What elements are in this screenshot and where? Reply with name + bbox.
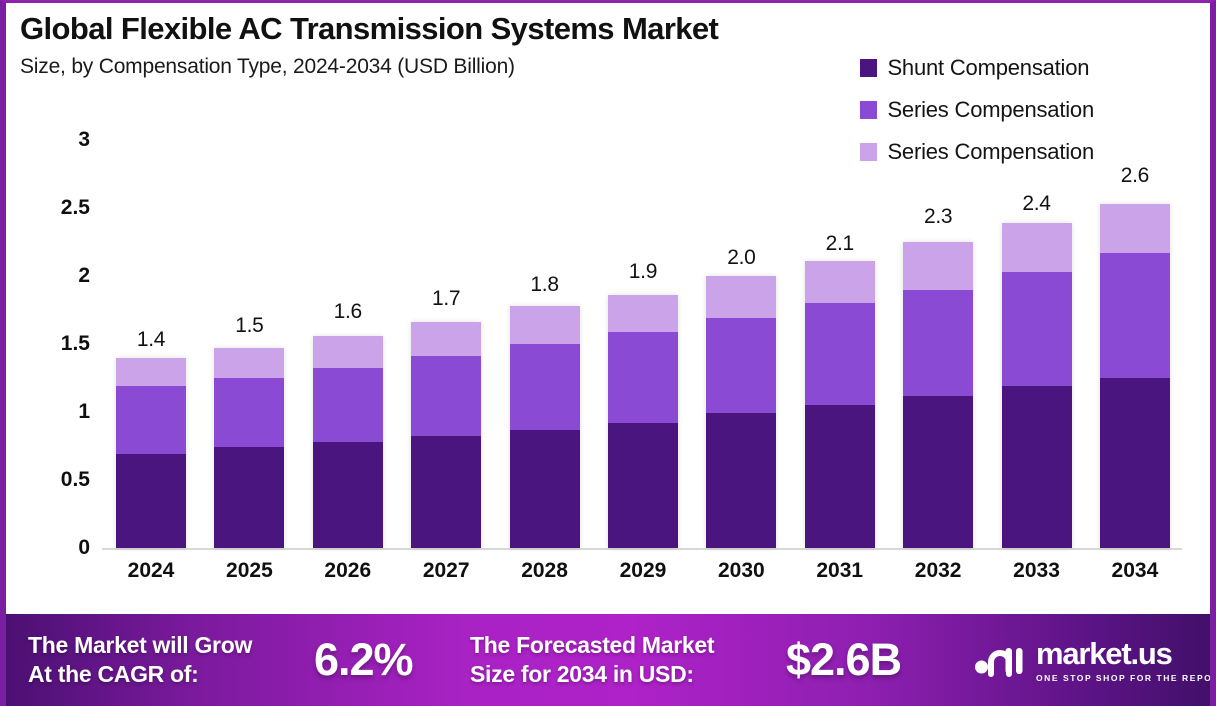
bar-segment[interactable] <box>805 405 875 548</box>
bar-column[interactable]: 1.8 <box>496 113 594 548</box>
bar-segment[interactable] <box>608 423 678 548</box>
bar-segment[interactable] <box>116 358 186 387</box>
bar-segment[interactable] <box>510 430 580 548</box>
cagr-label: The Market will Grow At the CAGR of: <box>28 631 252 689</box>
bar-value-label: 1.8 <box>496 273 594 297</box>
forecast-label-line1: The Forecasted Market <box>470 632 714 658</box>
bar-segment[interactable] <box>313 336 383 369</box>
bar-segment[interactable] <box>706 276 776 318</box>
bar-column[interactable]: 1.4 <box>102 113 200 548</box>
y-axis-tick: 0.5 <box>61 468 90 492</box>
footer-banner: The Market will Grow At the CAGR of: 6.2… <box>6 614 1210 706</box>
bar-segment[interactable] <box>903 396 973 548</box>
forecast-label: The Forecasted Market Size for 2034 in U… <box>470 631 714 689</box>
bar-column[interactable]: 1.7 <box>397 113 495 548</box>
x-axis-tick: 2026 <box>299 559 397 583</box>
legend-label-shunt: Shunt Compensation <box>887 55 1089 81</box>
stacked-bar[interactable] <box>608 295 678 548</box>
chart-page: Global Flexible AC Transmission Systems … <box>0 0 1216 706</box>
x-axis-tick: 2032 <box>889 559 987 583</box>
legend-swatch-shunt-icon <box>860 59 877 77</box>
market-us-logo[interactable]: market.us ONE STOP SHOP FOR THE REPORTS <box>974 638 1210 683</box>
bar-segment[interactable] <box>214 348 284 378</box>
stacked-bar[interactable] <box>903 242 973 548</box>
bar-segment[interactable] <box>608 332 678 423</box>
bar-segment[interactable] <box>608 295 678 332</box>
bar-segment[interactable] <box>1100 378 1170 548</box>
bar-column[interactable]: 1.9 <box>594 113 692 548</box>
cagr-value: 6.2% <box>314 634 413 686</box>
bar-segment[interactable] <box>1002 386 1072 548</box>
bar-segment[interactable] <box>214 378 284 447</box>
bar-segment[interactable] <box>313 442 383 548</box>
bar-segment[interactable] <box>116 454 186 548</box>
x-axis-tick: 2028 <box>496 559 594 583</box>
bar-segment[interactable] <box>1002 272 1072 386</box>
bar-segment[interactable] <box>805 303 875 405</box>
x-axis-tick: 2024 <box>102 559 200 583</box>
bar-column[interactable]: 2.0 <box>692 113 790 548</box>
legend-item-shunt-compensation[interactable]: Shunt Compensation <box>860 55 1089 81</box>
bar-segment[interactable] <box>313 368 383 441</box>
stacked-bar[interactable] <box>116 358 186 548</box>
bar-segment[interactable] <box>411 322 481 356</box>
bar-value-label: 2.1 <box>791 232 889 256</box>
bar-segment[interactable] <box>903 290 973 396</box>
bar-segment[interactable] <box>510 306 580 344</box>
bar-value-label: 1.7 <box>397 287 495 311</box>
stacked-bar[interactable] <box>1100 204 1170 548</box>
x-axis-tick: 2031 <box>791 559 889 583</box>
x-axis-tick: 2034 <box>1086 559 1184 583</box>
stacked-bar[interactable] <box>706 276 776 548</box>
bar-value-label: 1.5 <box>200 314 298 338</box>
x-axis-tick: 2033 <box>988 559 1086 583</box>
chart-header: Global Flexible AC Transmission Systems … <box>20 11 820 79</box>
stacked-bar[interactable] <box>313 336 383 548</box>
y-axis-tick: 1.5 <box>61 332 90 356</box>
bar-segment[interactable] <box>1100 204 1170 253</box>
y-axis-tick: 2 <box>78 264 90 288</box>
logo-wordmark: market.us <box>1036 638 1210 669</box>
y-axis-tick: 0 <box>78 536 90 560</box>
y-axis-tick: 2.5 <box>61 196 90 220</box>
x-axis-tick: 2027 <box>397 559 495 583</box>
cagr-label-line1: The Market will Grow <box>28 632 252 658</box>
x-axis-tick: 2030 <box>692 559 790 583</box>
y-axis: 00.511.522.53 <box>28 113 90 553</box>
bar-value-label: 2.6 <box>1086 164 1184 188</box>
bar-segment[interactable] <box>510 344 580 430</box>
x-axis-tick: 2025 <box>200 559 298 583</box>
bar-segment[interactable] <box>903 242 973 290</box>
bar-segment[interactable] <box>116 386 186 454</box>
bar-chart-logo-icon <box>974 640 1026 680</box>
stacked-bar[interactable] <box>805 261 875 548</box>
bar-series-group: 1.41.51.61.71.81.92.02.12.32.42.6 <box>102 113 1184 548</box>
bar-segment[interactable] <box>214 447 284 548</box>
y-axis-tick: 3 <box>78 128 90 152</box>
bar-column[interactable]: 1.5 <box>200 113 298 548</box>
bar-segment[interactable] <box>706 318 776 413</box>
cagr-label-line2: At the CAGR of: <box>28 661 199 687</box>
bar-value-label: 1.9 <box>594 260 692 284</box>
stacked-bar[interactable] <box>411 322 481 548</box>
stacked-bar[interactable] <box>214 348 284 548</box>
bar-segment[interactable] <box>805 261 875 303</box>
bar-value-label: 2.4 <box>988 192 1086 216</box>
y-axis-tick: 1 <box>78 400 90 424</box>
bar-segment[interactable] <box>1002 223 1072 272</box>
axis-baseline <box>102 548 1182 550</box>
bar-segment[interactable] <box>1100 253 1170 378</box>
bar-segment[interactable] <box>411 436 481 548</box>
bar-column[interactable]: 2.3 <box>889 113 987 548</box>
bar-value-label: 1.4 <box>102 328 200 352</box>
bar-segment[interactable] <box>706 413 776 548</box>
x-axis: 2024202520262027202820292030203120322033… <box>102 559 1184 583</box>
bar-value-label: 1.6 <box>299 300 397 324</box>
bar-column[interactable]: 2.4 <box>988 113 1086 548</box>
stacked-bar[interactable] <box>510 306 580 548</box>
forecast-label-line2: Size for 2034 in USD: <box>470 661 694 687</box>
x-axis-tick: 2029 <box>594 559 692 583</box>
bar-value-label: 2.3 <box>889 205 987 229</box>
plot-area: 00.511.522.53 1.41.51.61.71.81.92.02.12.… <box>6 113 1210 553</box>
logo-text: market.us ONE STOP SHOP FOR THE REPORTS <box>1036 638 1210 683</box>
logo-tagline: ONE STOP SHOP FOR THE REPORTS <box>1036 673 1210 683</box>
forecast-value: $2.6B <box>786 634 901 686</box>
bar-column[interactable]: 2.1 <box>791 113 889 548</box>
chart-subtitle: Size, by Compensation Type, 2024-2034 (U… <box>20 55 820 79</box>
bar-value-label: 2.0 <box>692 246 790 270</box>
page-title: Global Flexible AC Transmission Systems … <box>20 11 820 47</box>
bar-column[interactable]: 1.6 <box>299 113 397 548</box>
stacked-bar[interactable] <box>1002 223 1072 548</box>
bar-column[interactable]: 2.6 <box>1086 113 1184 548</box>
bar-segment[interactable] <box>411 356 481 436</box>
